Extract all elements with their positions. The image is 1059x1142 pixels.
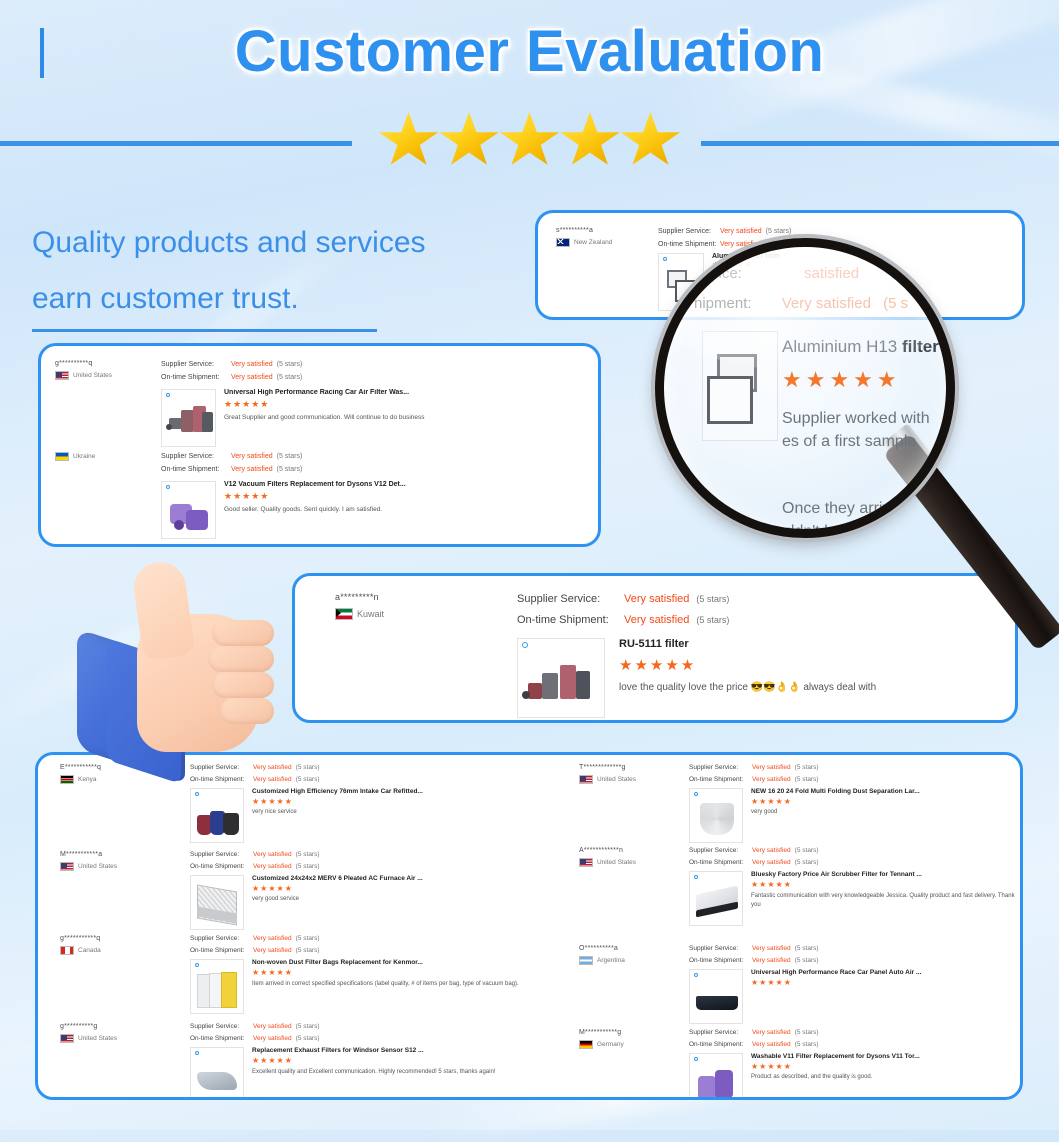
on-time-shipment-value: Very satisfied xyxy=(253,945,292,957)
on-time-shipment-value: Very satisfied xyxy=(231,463,273,476)
flag-icon-united-states xyxy=(60,1034,74,1043)
product-thumbnail[interactable] xyxy=(689,871,743,926)
on-time-shipment-label: On-time Shipment: xyxy=(190,774,253,786)
rating-row-supplier-service: Supplier Service: Very satisfied (5 star… xyxy=(517,589,729,610)
gold-star-icon xyxy=(499,112,561,170)
hand-finger xyxy=(212,620,274,646)
product-review[interactable]: Bluesky Factory Price Air Scrubber Filte… xyxy=(689,871,1023,926)
rating-summary: Supplier Service: Very satisfied (5 star… xyxy=(689,943,819,968)
buyer-id: O**********a xyxy=(579,945,625,952)
product-image-panel-air-filter xyxy=(690,970,742,1023)
on-time-shipment-count: (5 stars) xyxy=(296,1033,320,1045)
buyer-identity: T*************g United States xyxy=(579,764,636,784)
product-title: Universal High Performance Race Car Pane… xyxy=(751,969,1023,976)
magnified-review-line-3: Once they arrive xyxy=(782,497,899,520)
on-time-shipment-label: On-time Shipment: xyxy=(161,463,231,476)
buyer-identity: M***********g Germany xyxy=(579,1029,624,1049)
flag-icon-united-states xyxy=(60,862,74,871)
product-thumbnail[interactable] xyxy=(190,1047,244,1099)
country-label: Argentina xyxy=(597,957,625,964)
supplier-service-label: Supplier Service: xyxy=(658,225,720,238)
product-star-rating: ★★★★★ xyxy=(252,884,510,893)
on-time-shipment-label: On-time Shipment: xyxy=(161,371,231,384)
product-star-rating: ★★★★★ xyxy=(751,880,1023,889)
product-title: Universal High Performance Racing Car Ai… xyxy=(224,389,601,396)
buyer-identity: Ukraine xyxy=(55,452,95,461)
supplier-service-label: Supplier Service: xyxy=(689,845,752,857)
rating-row-supplier-service: Supplier Service: Very satisfied (5 star… xyxy=(689,1027,819,1039)
supplier-service-count: (5 stars) xyxy=(766,225,792,238)
on-time-shipment-value: Very satisfied xyxy=(624,610,689,631)
magnified-filter-panel-front xyxy=(707,376,753,424)
on-time-shipment-count: (5 stars) xyxy=(277,371,303,384)
review-comment: Product as described, and the quality is… xyxy=(751,1074,1023,1080)
product-image-pleated-furnace-filter xyxy=(191,876,243,929)
product-thumbnail[interactable] xyxy=(190,875,244,930)
buyer-country: Argentina xyxy=(579,956,625,965)
buyer-identity: g**********q United States xyxy=(55,360,112,380)
review-comment: very good xyxy=(751,809,1023,815)
rating-summary: Supplier Service: Very satisfied (5 star… xyxy=(190,1021,320,1046)
product-details: Washable V11 Filter Replacement for Dyso… xyxy=(751,1053,1023,1100)
on-time-shipment-value: Very satisfied xyxy=(752,857,791,869)
rating-row-on-time-shipment: On-time Shipment: Very satisfied (5 star… xyxy=(190,945,320,957)
product-star-rating: ★★★★★ xyxy=(751,978,1023,987)
buyer-country: Kuwait xyxy=(335,608,384,620)
supplier-service-value: Very satisfied xyxy=(253,1021,292,1033)
magnified-review-line-1: Supplier worked with xyxy=(782,407,930,430)
buyer-country: United States xyxy=(579,858,636,867)
country-label: United States xyxy=(597,859,636,866)
product-star-rating: ★★★★★ xyxy=(751,797,1023,806)
supplier-service-label: Supplier Service: xyxy=(190,933,253,945)
buyer-country: Germany xyxy=(579,1040,624,1049)
product-review[interactable]: NEW 16 20 24 Fold Multi Folding Dust Sep… xyxy=(689,788,1023,843)
country-label: United States xyxy=(78,863,117,870)
hand-finger xyxy=(212,672,274,698)
magnified-review-line-4: uldn't be happ xyxy=(782,520,899,538)
supplier-service-count: (5 stars) xyxy=(277,450,303,463)
header-star-rating xyxy=(0,112,1059,174)
flag-icon-united-states xyxy=(55,371,69,380)
product-review[interactable]: Non-woven Dust Filter Bags Replacement f… xyxy=(190,959,524,1014)
supplier-service-label: Supplier Service: xyxy=(517,589,624,610)
on-time-shipment-count: (5 stars) xyxy=(296,945,320,957)
buyer-identity: M***********a United States xyxy=(60,851,117,871)
gold-star-icon xyxy=(438,112,500,170)
on-time-shipment-value: Very satisfied xyxy=(231,371,273,384)
product-image-folding-dust-separator xyxy=(690,789,742,842)
buyer-country: United States xyxy=(55,371,112,380)
on-time-shipment-count: (5 stars) xyxy=(795,955,819,967)
buyer-country: Canada xyxy=(60,946,101,955)
country-label: Germany xyxy=(597,1041,624,1048)
supplier-service-count: (5 stars) xyxy=(795,1027,819,1039)
hand-finger xyxy=(208,646,274,672)
supplier-service-value: Very satisfied xyxy=(253,849,292,861)
supplier-service-count: (5 stars) xyxy=(795,762,819,774)
buyer-id: s**********a xyxy=(556,227,612,234)
product-details: Bluesky Factory Price Air Scrubber Filte… xyxy=(751,871,1023,926)
product-details: NEW 16 20 24 Fold Multi Folding Dust Sep… xyxy=(751,788,1023,843)
product-review[interactable]: Universal High Performance Race Car Pane… xyxy=(689,969,1023,1024)
rating-row-on-time-shipment: On-time Shipment: Very satisfied (5 star… xyxy=(190,861,320,873)
product-review[interactable]: Replacement Exhaust Filters for Windsor … xyxy=(190,1047,524,1099)
product-title: Customized 24x24x2 MERV 6 Pleated AC Fur… xyxy=(252,875,510,882)
rating-row-supplier-service: Supplier Service: Very satisfied (5 star… xyxy=(190,849,320,861)
subtitle-underline xyxy=(32,329,377,332)
buyer-id: M***********g xyxy=(579,1029,624,1036)
product-image-vacuum-filters xyxy=(162,482,215,538)
buyer-id: g***********q xyxy=(60,935,101,942)
product-image-washable-v11-filter xyxy=(690,1054,742,1100)
product-review[interactable]: Washable V11 Filter Replacement for Dyso… xyxy=(689,1053,1023,1100)
flag-icon-kenya xyxy=(60,775,74,784)
product-review[interactable]: V12 Vacuum Filters Replacement for Dyson… xyxy=(161,481,601,539)
rating-summary: Supplier Service: Very satisfied (5 star… xyxy=(517,589,729,631)
supplier-service-value: Very satisfied xyxy=(231,358,273,371)
product-details: Replacement Exhaust Filters for Windsor … xyxy=(252,1047,524,1099)
supplier-service-value: Very satisfied xyxy=(720,225,762,238)
rating-summary: Supplier Service: Very satisfied (5 star… xyxy=(689,845,819,870)
supplier-service-count: (5 stars) xyxy=(696,591,729,608)
rating-row-on-time-shipment: On-time Shipment: Very satisfied (5 star… xyxy=(689,955,819,967)
country-label: United States xyxy=(597,776,636,783)
product-title: Bluesky Factory Price Air Scrubber Filte… xyxy=(751,871,1023,878)
country-label: United States xyxy=(73,372,112,379)
rating-row-on-time-shipment: On-time Shipment: Very satisfied (5 star… xyxy=(689,857,819,869)
flag-icon-kuwait xyxy=(335,608,353,620)
review-comment: Good seller. Quality goods. Sent quickly… xyxy=(224,506,601,513)
rating-row-on-time-shipment: On-time Shipment: Very satisfied (5 star… xyxy=(190,774,320,786)
rating-summary: Supplier Service: Very satisfied (5 star… xyxy=(161,450,302,477)
country-label: Canada xyxy=(78,947,101,954)
page-header: Customer Evaluation xyxy=(0,0,1059,175)
supplier-service-value: Very satisfied xyxy=(752,943,791,955)
on-time-shipment-label: On-time Shipment: xyxy=(689,1039,752,1051)
product-thumbnail[interactable] xyxy=(689,788,743,843)
product-thumbnail[interactable] xyxy=(190,788,244,843)
on-time-shipment-count: (5 stars) xyxy=(795,857,819,869)
gold-star-icon xyxy=(378,112,440,170)
on-time-shipment-value: Very satisfied xyxy=(253,861,292,873)
review-comment: very nice service xyxy=(252,809,510,815)
subtitle-line-2: earn customer trust. xyxy=(32,271,532,327)
rating-row-on-time-shipment: On-time Shipment: Very satisfied (5 star… xyxy=(161,371,302,384)
flag-icon-united-states xyxy=(579,775,593,784)
country-label: Kenya xyxy=(78,776,96,783)
on-time-shipment-label: On-time Shipment: xyxy=(689,955,752,967)
rating-summary: Supplier Service: Very satisfied (5 star… xyxy=(689,1027,819,1052)
flag-icon-new-zealand xyxy=(556,238,570,247)
rating-row-supplier-service: Supplier Service: Very satisfied (5 star… xyxy=(190,1021,320,1033)
product-star-rating: ★★★★★ xyxy=(751,1062,1023,1071)
buyer-id: a*********n xyxy=(335,592,384,602)
hand-finger xyxy=(220,698,274,724)
review-card-kuwait[interactable]: a*********n Kuwait Supplier Service: Ver… xyxy=(292,573,1018,723)
supplier-service-count: (5 stars) xyxy=(296,1021,320,1033)
gold-star-icon xyxy=(619,112,681,170)
product-title: RU-5111 filter xyxy=(619,638,1018,650)
buyer-country: Kenya xyxy=(60,775,101,784)
rating-row-on-time-shipment: On-time Shipment: Very satisfied (5 star… xyxy=(689,774,819,786)
product-review[interactable]: Customized 24x24x2 MERV 6 Pleated AC Fur… xyxy=(190,875,510,930)
product-thumbnail[interactable] xyxy=(190,959,244,1014)
review-card-us-ukraine[interactable]: g**********q United States Supplier Serv… xyxy=(38,343,601,547)
product-star-rating: ★★★★★ xyxy=(252,968,524,977)
product-details: Customized 24x24x2 MERV 6 Pleated AC Fur… xyxy=(252,875,510,930)
on-time-shipment-label: On-time Shipment: xyxy=(190,861,253,873)
on-time-shipment-count: (5 stars) xyxy=(296,774,320,786)
buyer-identity: s**********a New Zealand xyxy=(556,227,612,247)
supplier-service-label: Supplier Service: xyxy=(689,943,752,955)
rating-row-supplier-service: Supplier Service: Very satisfied (5 star… xyxy=(190,933,320,945)
on-time-shipment-count: (5 stars) xyxy=(795,774,819,786)
buyer-id: T*************g xyxy=(579,764,636,771)
buyer-identity: a*********n Kuwait xyxy=(335,592,384,620)
on-time-shipment-label: On-time Shipment: xyxy=(689,774,752,786)
rating-row-supplier-service: Supplier Service: Very satisfied (5 star… xyxy=(161,358,302,371)
on-time-shipment-label: On-time Shipment: xyxy=(190,945,253,957)
supplier-service-label: Supplier Service: xyxy=(161,358,231,371)
rating-row-supplier-service: Supplier Service: Very satisfied (5 star… xyxy=(658,225,791,238)
product-star-rating: ★★★★★ xyxy=(252,797,510,806)
on-time-shipment-value: Very satisfied xyxy=(253,1033,292,1045)
product-details: Universal High Performance Race Car Pane… xyxy=(751,969,1023,1024)
flag-icon-united-states xyxy=(579,858,593,867)
supplier-service-label: Supplier Service: xyxy=(190,849,253,861)
flag-icon-germany xyxy=(579,1040,593,1049)
magnifier-illustration: rvice: satisfied nipment: Very satisfied… xyxy=(655,238,955,538)
supplier-service-count: (5 stars) xyxy=(296,762,320,774)
supplier-service-count: (5 stars) xyxy=(277,358,303,371)
on-time-shipment-value: Very satisfied xyxy=(752,774,791,786)
supplier-service-value: Very satisfied xyxy=(752,1027,791,1039)
rating-summary: Supplier Service: Very satisfied (5 star… xyxy=(689,762,819,787)
product-details: V12 Vacuum Filters Replacement for Dyson… xyxy=(224,481,601,539)
product-image-car-air-filters xyxy=(162,390,215,446)
supplier-service-value: Very satisfied xyxy=(752,762,791,774)
review-comment: love the quality love the price 😎😎👌👌 alw… xyxy=(619,682,1018,693)
flag-icon-ukraine xyxy=(55,452,69,461)
supplier-service-value: Very satisfied xyxy=(624,589,689,610)
magnified-review-body-2: Once they arrive uldn't be happ xyxy=(782,497,899,538)
flag-icon-argentina xyxy=(579,956,593,965)
product-image-intake-cones xyxy=(191,789,243,842)
page-title: Customer Evaluation xyxy=(0,18,1059,85)
buyer-country: United States xyxy=(60,862,117,871)
product-details: RU-5111 filter ★★★★★ love the quality lo… xyxy=(619,638,1018,718)
supplier-service-count: (5 stars) xyxy=(296,933,320,945)
review-comment: Excellent quality and Excellent communic… xyxy=(252,1068,524,1077)
rating-row-supplier-service: Supplier Service: Very satisfied (5 star… xyxy=(689,762,819,774)
on-time-shipment-count: (5 stars) xyxy=(696,612,729,629)
subtitle-block: Quality products and services earn custo… xyxy=(32,215,532,332)
product-image-filter-set xyxy=(518,639,604,717)
buyer-id: M***********a xyxy=(60,851,117,858)
buyer-identity: g***********q Canada xyxy=(60,935,101,955)
buyer-country: United States xyxy=(579,775,636,784)
flag-icon-canada xyxy=(60,946,74,955)
thumbs-up-illustration xyxy=(75,558,280,773)
rating-summary: Supplier Service: Very satisfied (5 star… xyxy=(190,933,320,958)
product-star-rating: ★★★★★ xyxy=(224,491,601,502)
buyer-id: A************n xyxy=(579,847,636,854)
supplier-service-label: Supplier Service: xyxy=(689,762,752,774)
product-review[interactable]: RU-5111 filter ★★★★★ love the quality lo… xyxy=(517,638,1018,718)
magnified-review-body: Supplier worked with es of a first sampl… xyxy=(782,407,930,453)
product-image-air-scrubber-filter xyxy=(690,872,742,925)
review-comment: very good service xyxy=(252,896,510,902)
product-details: Customized High Efficiency 76mm Intake C… xyxy=(252,788,510,843)
supplier-service-value: Very satisfied xyxy=(253,933,292,945)
buyer-identity: g**********g United States xyxy=(60,1023,117,1043)
on-time-shipment-label: On-time Shipment: xyxy=(689,857,752,869)
country-label: Ukraine xyxy=(73,453,95,460)
product-star-rating: ★★★★★ xyxy=(224,399,601,410)
product-thumbnail[interactable] xyxy=(689,969,743,1024)
product-review[interactable]: Customized High Efficiency 76mm Intake C… xyxy=(190,788,510,843)
product-details: Non-woven Dust Filter Bags Replacement f… xyxy=(252,959,524,1014)
supplier-service-value: Very satisfied xyxy=(231,450,273,463)
product-title: Customized High Efficiency 76mm Intake C… xyxy=(252,788,510,795)
on-time-shipment-count: (5 stars) xyxy=(296,861,320,873)
on-time-shipment-value: Very satisfied xyxy=(253,774,292,786)
supplier-service-label: Supplier Service: xyxy=(689,1027,752,1039)
product-details: Universal High Performance Racing Car Ai… xyxy=(224,389,601,447)
country-label: United States xyxy=(78,1035,117,1042)
on-time-shipment-value: Very satisfied xyxy=(752,1039,791,1051)
review-comment: Great Supplier and good communication. W… xyxy=(224,414,601,421)
supplier-service-label: Supplier Service: xyxy=(190,1021,253,1033)
rating-summary: Supplier Service: Very satisfied (5 star… xyxy=(161,358,302,385)
rating-summary: Supplier Service: Very satisfied (5 star… xyxy=(190,849,320,874)
country-label: Kuwait xyxy=(357,609,384,619)
product-star-rating: ★★★★★ xyxy=(252,1056,524,1065)
on-time-shipment-count: (5 stars) xyxy=(795,1039,819,1051)
rating-row-supplier-service: Supplier Service: Very satisfied (5 star… xyxy=(161,450,302,463)
buyer-identity: A************n United States xyxy=(579,847,636,867)
review-comment: Item arrived in correct specified specif… xyxy=(252,980,524,989)
magnified-review-line-2: es of a first sample xyxy=(782,430,930,453)
on-time-shipment-count: (5 stars) xyxy=(277,463,303,476)
buyer-id: g**********q xyxy=(55,360,112,367)
product-star-rating: ★★★★★ xyxy=(619,656,1018,674)
product-image-exhaust-filter xyxy=(191,1048,243,1098)
rating-row-on-time-shipment: On-time Shipment: Very satisfied (5 star… xyxy=(517,610,729,631)
supplier-service-count: (5 stars) xyxy=(296,849,320,861)
gold-star-icon xyxy=(559,112,621,170)
buyer-identity: O**********a Argentina xyxy=(579,945,625,965)
product-thumbnail[interactable] xyxy=(689,1053,743,1100)
on-time-shipment-label: On-time Shipment: xyxy=(190,1033,253,1045)
product-title: NEW 16 20 24 Fold Multi Folding Dust Sep… xyxy=(751,788,1023,795)
supplier-service-count: (5 stars) xyxy=(795,943,819,955)
product-title: V12 Vacuum Filters Replacement for Dyson… xyxy=(224,481,601,488)
supplier-service-label: Supplier Service: xyxy=(161,450,231,463)
rating-row-supplier-service: Supplier Service: Very satisfied (5 star… xyxy=(689,943,819,955)
buyer-country: United States xyxy=(60,1034,117,1043)
rating-row-supplier-service: Supplier Service: Very satisfied (5 star… xyxy=(689,845,819,857)
product-thumbnail[interactable] xyxy=(161,389,216,447)
magnifier-lens: rvice: satisfied nipment: Very satisfied… xyxy=(655,238,955,538)
supplier-service-value: Very satisfied xyxy=(752,845,791,857)
rating-row-on-time-shipment: On-time Shipment: Very satisfied (5 star… xyxy=(190,1033,320,1045)
product-title: Washable V11 Filter Replacement for Dyso… xyxy=(751,1053,1023,1060)
on-time-shipment-value: Very satisfied xyxy=(752,955,791,967)
product-review[interactable]: Universal High Performance Racing Car Ai… xyxy=(161,389,601,447)
review-grid-card[interactable]: E***********q Kenya Supplier Service: Ve… xyxy=(35,752,1023,1100)
product-title: Replacement Exhaust Filters for Windsor … xyxy=(252,1047,524,1054)
supplier-service-count: (5 stars) xyxy=(795,845,819,857)
product-thumbnail[interactable] xyxy=(161,481,216,539)
product-thumbnail[interactable] xyxy=(517,638,605,718)
magnifier-glass: rvice: satisfied nipment: Very satisfied… xyxy=(664,247,946,529)
review-comment: Fantastic communication with very knowle… xyxy=(751,892,1023,910)
buyer-id: g**********g xyxy=(60,1023,117,1030)
buyer-country: Ukraine xyxy=(55,452,95,461)
magnifier-glare xyxy=(655,238,955,371)
on-time-shipment-label: On-time Shipment: xyxy=(517,610,624,631)
country-label: New Zealand xyxy=(574,239,612,246)
rating-row-on-time-shipment: On-time Shipment: Very satisfied (5 star… xyxy=(689,1039,819,1051)
buyer-country: New Zealand xyxy=(556,238,612,247)
product-image-dust-filter-bags xyxy=(191,960,243,1013)
product-title: Non-woven Dust Filter Bags Replacement f… xyxy=(252,959,524,966)
subtitle-line-1: Quality products and services xyxy=(32,215,532,271)
rating-row-on-time-shipment: On-time Shipment: Very satisfied (5 star… xyxy=(161,463,302,476)
